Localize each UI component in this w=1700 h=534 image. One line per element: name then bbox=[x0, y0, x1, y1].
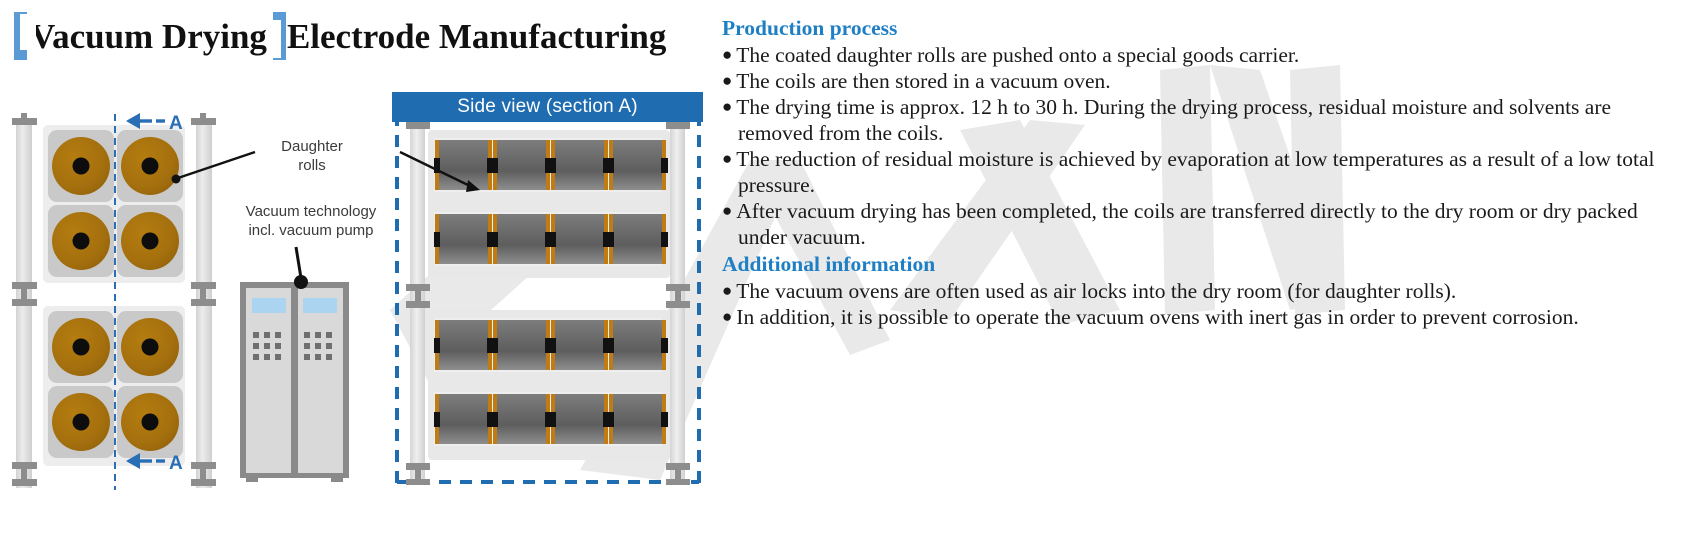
bullet-text: The coated daughter rolls are pushed ont… bbox=[736, 43, 1299, 67]
bullet-item: ●The vacuum ovens are often used as air … bbox=[722, 278, 1690, 304]
pump-button-grid-right bbox=[304, 332, 332, 360]
bullet-dot-icon: ● bbox=[722, 201, 736, 220]
pump-display-left bbox=[252, 298, 286, 313]
text-panel: Production process ●The coated daughter … bbox=[722, 14, 1690, 330]
pump-button-grid-left bbox=[253, 332, 281, 360]
section-marker-bottom: A bbox=[100, 448, 192, 476]
label-vacuum-tech-line2: incl. vacuum pump bbox=[218, 222, 404, 241]
bullet-text: The coils are then stored in a vacuum ov… bbox=[736, 69, 1110, 93]
label-daughter-rolls-line1: Daughter bbox=[242, 138, 382, 157]
bullet-dot-icon: ● bbox=[722, 149, 736, 168]
pump-door-left bbox=[246, 288, 292, 473]
bullet-text: After vacuum drying has been completed, … bbox=[736, 199, 1637, 249]
label-vacuum-technology: Vacuum technology incl. vacuum pump bbox=[218, 203, 404, 241]
bullet-dot-icon: ● bbox=[722, 281, 736, 300]
side-view-header-label: Side view (section A) bbox=[457, 96, 638, 118]
label-daughter-rolls: Daughter rolls bbox=[242, 138, 382, 176]
svg-text:A: A bbox=[169, 453, 183, 474]
section-marker-top: A bbox=[100, 108, 192, 136]
pump-base-foot-right bbox=[331, 473, 343, 482]
title-bracket-middle-icon bbox=[267, 12, 289, 60]
bullet-item: ●In addition, it is possible to operate … bbox=[722, 304, 1690, 330]
slide-canvas: Vacuum Drying Electrode Manufacturing bbox=[0, 0, 1700, 534]
heading-production-process: Production process bbox=[722, 14, 1690, 42]
heading-additional-information: Additional information bbox=[722, 250, 1690, 278]
page-title: Vacuum Drying Electrode Manufacturing bbox=[14, 8, 666, 64]
bullet-item: ●The reduction of residual moisture is a… bbox=[722, 146, 1690, 198]
side-carrier-lower bbox=[428, 310, 670, 460]
bullet-dot-icon: ● bbox=[722, 45, 736, 64]
svg-text:A: A bbox=[169, 113, 183, 134]
side-view-header: Side view (section A) bbox=[392, 92, 703, 122]
label-vacuum-tech-line1: Vacuum technology bbox=[218, 203, 404, 222]
bullet-item: ●The coils are then stored in a vacuum o… bbox=[722, 68, 1690, 94]
section-additional-information: Additional information ●The vacuum ovens… bbox=[722, 250, 1690, 330]
bullet-item: ●The coated daughter rolls are pushed on… bbox=[722, 42, 1690, 68]
bullet-text: The drying time is approx. 12 h to 30 h.… bbox=[736, 95, 1611, 145]
bullet-text: The reduction of residual moisture is ac… bbox=[736, 147, 1654, 197]
label-daughter-rolls-line2: rolls bbox=[242, 157, 382, 176]
title-part-two: Electrode Manufacturing bbox=[287, 19, 666, 54]
vacuum-pump-cabinet bbox=[232, 272, 357, 484]
section-production-process: Production process ●The coated daughter … bbox=[722, 14, 1690, 250]
bullet-item: ●After vacuum drying has been completed,… bbox=[722, 198, 1690, 250]
pump-base-foot-left bbox=[246, 473, 258, 482]
bullet-dot-icon: ● bbox=[722, 307, 736, 326]
bullet-text: In addition, it is possible to operate t… bbox=[736, 305, 1579, 329]
bullet-item: ●The drying time is approx. 12 h to 30 h… bbox=[722, 94, 1690, 146]
title-bracket-left-icon bbox=[14, 12, 36, 60]
bullet-dot-icon: ● bbox=[722, 97, 736, 116]
bullet-dot-icon: ● bbox=[722, 71, 736, 90]
bullet-text: The vacuum ovens are often used as air l… bbox=[736, 279, 1456, 303]
title-part-one: Vacuum Drying bbox=[30, 19, 267, 54]
leader-line-vacuum-pump bbox=[280, 245, 320, 290]
pump-door-right bbox=[297, 288, 343, 473]
pump-display-right bbox=[303, 298, 337, 313]
pump-door-divider bbox=[291, 284, 298, 476]
